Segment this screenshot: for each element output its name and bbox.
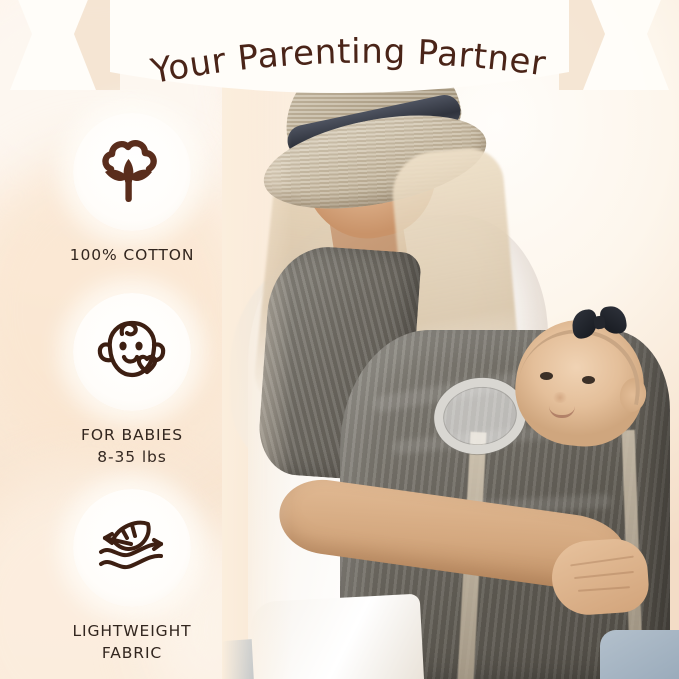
baby-face-icon (92, 315, 172, 389)
cotton-plant-icon (93, 133, 171, 211)
feature-label-line1: LIGHTWEIGHT (72, 622, 191, 640)
feature-babies: FOR BABIES 8-35 lbs (26, 293, 238, 469)
feather-fabric-icon (91, 514, 173, 582)
mother-hand (550, 537, 651, 618)
feature-label-line1: FOR BABIES (81, 426, 183, 444)
ribbon-band (110, 0, 569, 93)
feature-cotton: 100% COTTON (26, 113, 238, 266)
jeans-right (600, 630, 679, 679)
feature-icon-circle (73, 293, 191, 411)
feature-lightweight: LIGHTWEIGHT FABRIC (26, 489, 238, 665)
feature-label: FOR BABIES 8-35 lbs (26, 424, 238, 469)
feature-label-line1: 100% COTTON (70, 246, 195, 264)
feature-label: LIGHTWEIGHT FABRIC (26, 620, 238, 665)
feature-icon-circle (73, 489, 191, 607)
ribbon-banner: Your Parenting Partner (0, 0, 679, 115)
feature-label-line2: FABRIC (26, 642, 238, 664)
feature-label-line2: 8-35 lbs (26, 446, 238, 468)
baby-bow-knot (593, 315, 606, 329)
product-infographic: Your Parenting Partner 100% COTTON (0, 0, 679, 679)
feature-label: 100% COTTON (26, 244, 238, 266)
feature-icon-circle (73, 113, 191, 231)
